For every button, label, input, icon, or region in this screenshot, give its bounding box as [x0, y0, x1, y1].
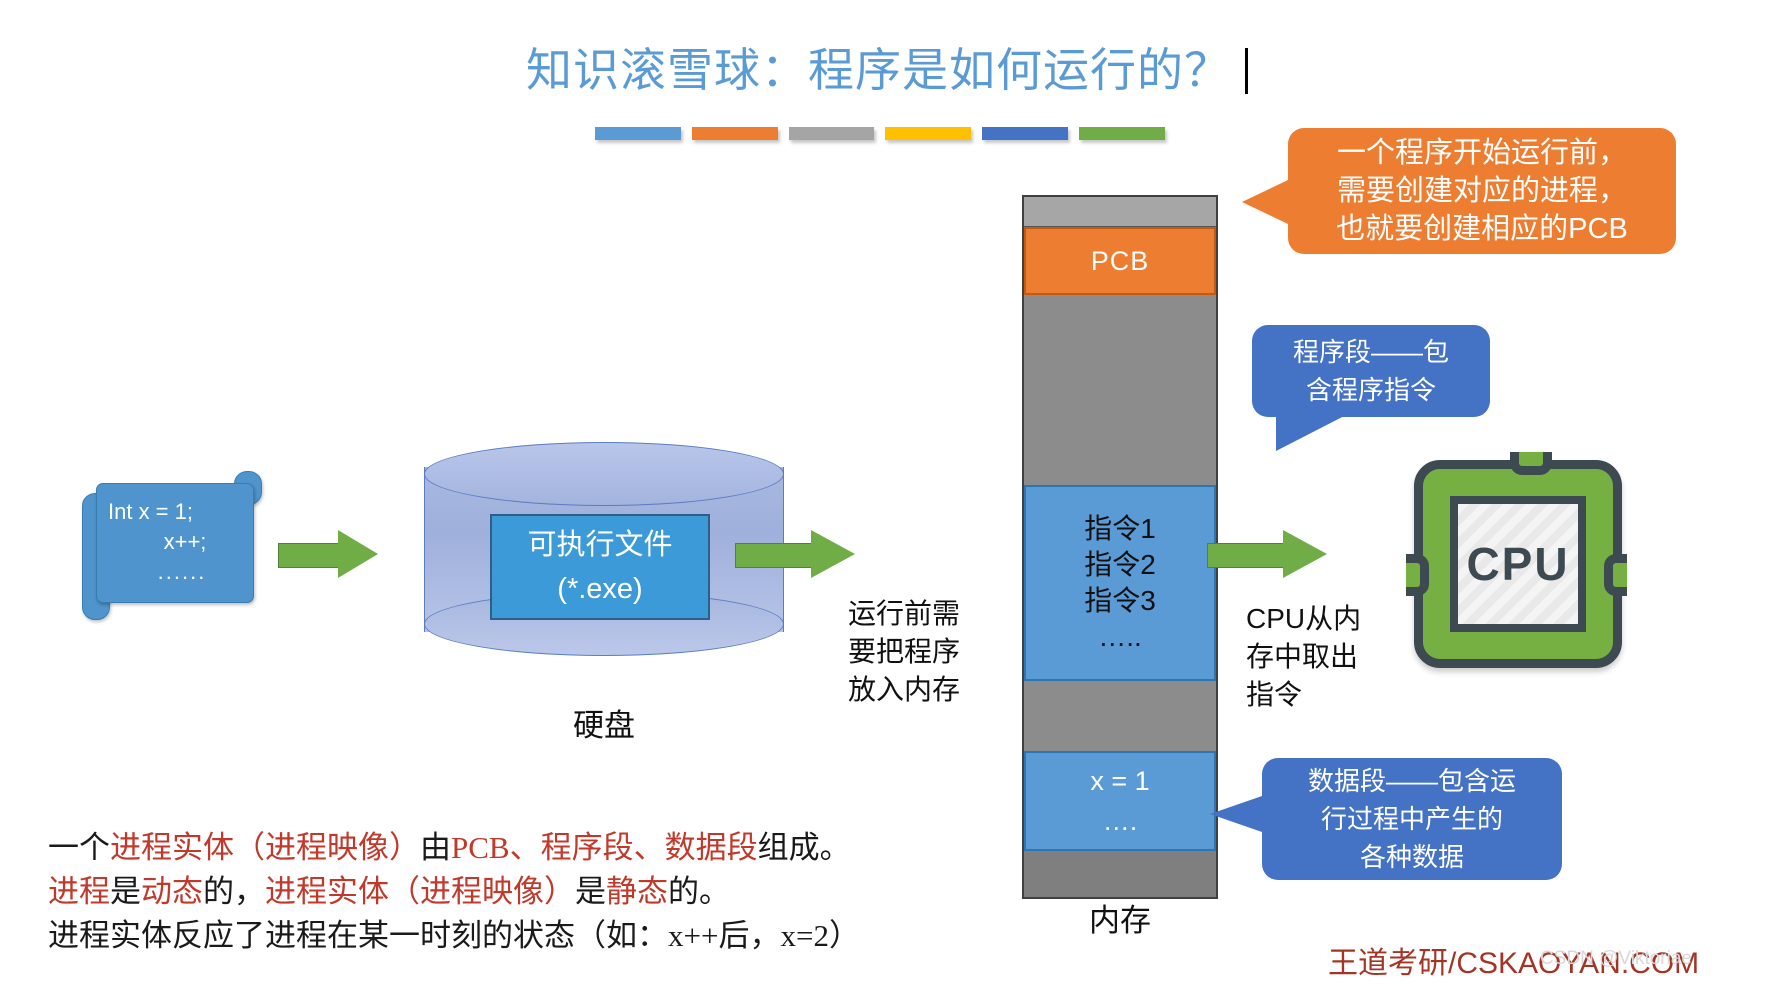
bar-green [1079, 127, 1165, 140]
callout-pcb-line2: 需要创建对应的进程， [1336, 172, 1628, 210]
instruction-2: 指令2 [1084, 547, 1156, 583]
bar-blue [595, 127, 681, 140]
bar-yellow [885, 127, 971, 140]
title-color-bars [595, 127, 1165, 145]
bar-indigo [982, 127, 1068, 140]
exe-label-line2: (*.exe) [557, 567, 642, 611]
data-line-1: x = 1 [1090, 761, 1149, 801]
executable-file-box: 可执行文件 (*.exe) [490, 514, 710, 620]
cpu-icon: CPU [1406, 452, 1630, 676]
explanation-plain: 的。 [668, 874, 730, 909]
instruction-3: 指令3 [1084, 583, 1156, 619]
cpu-notch-top [1510, 452, 1552, 475]
exe-label-line1: 可执行文件 [527, 523, 672, 567]
source-code-scroll: Int x = 1; x++; ...... [82, 483, 252, 608]
csdn-watermark: CSDN @Viktoriae [1540, 948, 1692, 970]
explanation-line-1: 一个进程实体（进程映像）由PCB、程序段、数据段组成。 [48, 826, 988, 870]
callout-data-tail [1210, 796, 1262, 832]
code-line-2: x++; [102, 527, 248, 557]
explanation-plain: 的， [203, 874, 265, 909]
page-title: 知识滚雪球：程序是如何运行的？ [526, 34, 1231, 100]
callout-pcb-line1: 一个程序开始运行前， [1336, 134, 1628, 172]
callout-data-segment: 数据段——包含运 行过程中产生的 各种数据 [1262, 758, 1562, 880]
callout-data-line3: 各种数据 [1308, 838, 1516, 876]
memory-label: 内存 [1022, 895, 1218, 940]
hard-disk-label: 硬盘 [424, 700, 784, 745]
arrow-disk-to-memory [735, 530, 855, 578]
callout-pcb-creation: 一个程序开始运行前， 需要创建对应的进程， 也就要创建相应的PCB [1288, 128, 1676, 254]
explanation-plain: 进程实体反应了进程在某一时刻的状态（如：x++后，x=2） [48, 918, 860, 953]
code-line-3: ...... [102, 557, 248, 587]
label-load-line1: 运行前需 [824, 595, 984, 633]
pcb-label: PCB [1091, 246, 1150, 277]
data-line-ellipsis: …. [1103, 801, 1138, 841]
code-line-1: Int x = 1; [102, 497, 248, 527]
explanation-emphasis: PCB、程序段、数据段 [451, 830, 758, 865]
callout-pcb-line3: 也就要创建相应的PCB [1336, 210, 1628, 248]
arrow-memory-to-cpu [1207, 530, 1327, 578]
label-load-line2: 要把程序 [824, 633, 984, 671]
callout-data-line1: 数据段——包含运 [1308, 762, 1516, 800]
memory-segment-free-top [1024, 197, 1216, 227]
memory-column: PCB 指令1 指令2 指令3 ….. x = 1 …. [1022, 195, 1218, 899]
instruction-1: 指令1 [1084, 511, 1156, 547]
callout-program-line2: 含程序指令 [1293, 371, 1449, 409]
label-load-line3: 放入内存 [824, 671, 984, 709]
bar-gray [789, 127, 875, 140]
explanation-line-2: 进程是动态的，进程实体（进程映像）是静态的。 [48, 870, 988, 914]
title-area: 知识滚雪球：程序是如何运行的？ [0, 34, 1774, 100]
explanation-plain: 是 [110, 874, 141, 909]
label-fetch-line2: 存中取出 [1246, 638, 1421, 676]
explanation-plain: 由 [420, 830, 451, 865]
explanation-line-3: 进程实体反应了进程在某一时刻的状态（如：x++后，x=2） [48, 914, 988, 958]
callout-program-tail [1276, 413, 1350, 451]
memory-segment-free-bottom [1024, 851, 1216, 897]
label-fetch-line3: 指令 [1246, 676, 1421, 714]
explanation-emphasis: 进程实体（进程映像） [110, 830, 420, 865]
cylinder-top [424, 442, 784, 506]
callout-program-line1: 程序段——包 [1293, 333, 1449, 371]
explanation-text: 一个进程实体（进程映像）由PCB、程序段、数据段组成。 进程是动态的，进程实体（… [48, 826, 988, 958]
hard-disk-cylinder: 可执行文件 (*.exe) [424, 442, 784, 657]
callout-pcb-tail [1242, 180, 1288, 224]
memory-segment-program: 指令1 指令2 指令3 ….. [1024, 485, 1216, 681]
explanation-emphasis: 动态 [141, 874, 203, 909]
callout-program-segment: 程序段——包 含程序指令 [1252, 325, 1490, 417]
explanation-emphasis: 静态 [606, 874, 668, 909]
scroll-code-text: Int x = 1; x++; ...... [102, 497, 248, 587]
label-fetch-line1: CPU从内 [1246, 600, 1421, 638]
explanation-plain: 组成。 [758, 830, 851, 865]
label-cpu-fetch: CPU从内 存中取出 指令 [1246, 600, 1421, 714]
explanation-emphasis: 进程 [48, 874, 110, 909]
instruction-ellipsis: ….. [1098, 619, 1142, 655]
callout-data-line2: 行过程中产生的 [1308, 800, 1516, 838]
memory-segment-free-gap [1024, 681, 1216, 751]
arrow-code-to-disk [278, 530, 378, 578]
text-caret [1245, 48, 1248, 94]
cpu-notch-left [1406, 554, 1429, 596]
cpu-label: CPU [1450, 496, 1586, 632]
cpu-notch-right [1604, 554, 1627, 596]
memory-segment-pcb: PCB [1024, 227, 1216, 295]
memory-segment-data: x = 1 …. [1024, 751, 1216, 851]
explanation-emphasis: 进程实体（进程映像） [265, 874, 575, 909]
label-load-to-memory: 运行前需 要把程序 放入内存 [824, 595, 984, 709]
bar-orange [692, 127, 778, 140]
memory-segment-free-mid [1024, 295, 1216, 485]
explanation-plain: 一个 [48, 830, 110, 865]
explanation-plain: 是 [575, 874, 606, 909]
